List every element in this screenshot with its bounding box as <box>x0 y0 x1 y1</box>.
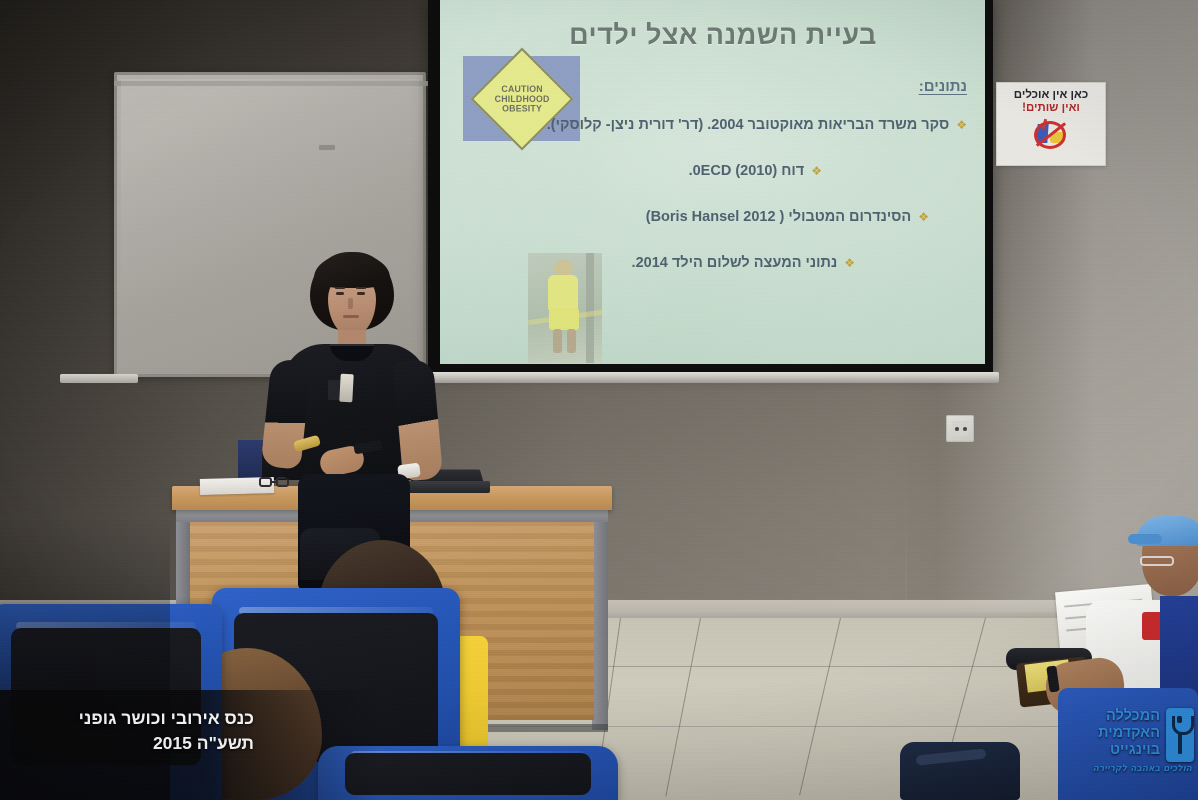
cap-brim <box>1128 534 1162 544</box>
bullet-diamond-icon: ❖ <box>918 208 929 226</box>
no-food-drink-sign: כאן אין אוכלים ואין שותים! <box>996 82 1106 166</box>
logo-line-3: בוינגייט <box>1068 742 1160 759</box>
caption-line-1: כנס אירובי וכושר גופני <box>14 706 254 731</box>
bullet-diamond-icon: ❖ <box>844 254 855 272</box>
whiteboard-marker-tray <box>60 374 138 383</box>
photo-canvas: בעיית השמנה אצל ילדים נתונים: CAUTION CH… <box>0 0 1198 800</box>
list-item: ❖ סקר משרד הבריאות מאוקטובר 2004. (דר' ד… <box>467 116 967 134</box>
event-caption: כנס אירובי וכושר גופני תשע"ה 2015 <box>14 706 254 757</box>
wall-power-outlet <box>946 415 974 442</box>
projection-screen-bottom-rail <box>424 372 999 383</box>
sign-line-1: כאן אין אוכלים <box>1014 89 1088 102</box>
bullet-text: נתוני המעצה לשלום הילד 2014. <box>632 254 838 272</box>
bullet-text: דוח 0ECD (2010). <box>689 162 805 180</box>
slide-child-photo <box>528 253 602 363</box>
slide-subheading: נתונים: <box>919 78 967 95</box>
bullet-text: הסינדרום המטבולי ( Boris Hansel 2012) <box>646 208 912 226</box>
logo-line-1: המכללה <box>1068 708 1160 725</box>
whiteboard-clip <box>319 145 335 150</box>
list-item: ❖ הסינדרום המטבולי ( Boris Hansel 2012) <box>467 208 967 226</box>
wingate-torch-icon <box>1166 708 1194 762</box>
desk-leg-right <box>592 508 608 730</box>
wingate-academic-college-logo: המכללה האקדמית בוינגייט הולכים באהבה לקר… <box>1062 706 1194 790</box>
logo-line-2: האקדמית <box>1068 725 1160 742</box>
bullet-diamond-icon: ❖ <box>956 116 967 134</box>
presenter-fringe <box>314 254 390 288</box>
caution-line-3: OBESITY <box>494 103 549 113</box>
no-food-no-drink-icon <box>1034 120 1068 150</box>
caption-line-2: תשע"ה 2015 <box>14 731 254 756</box>
projection-screen: בעיית השמנה אצל ילדים נתונים: CAUTION CH… <box>440 0 985 364</box>
bullet-text: סקר משרד הבריאות מאוקטובר 2004. (דר' דור… <box>547 116 949 134</box>
bullet-diamond-icon: ❖ <box>811 162 822 180</box>
presenter-pen-clip <box>339 374 353 403</box>
list-item: ❖ דוח 0ECD (2010). <box>467 162 967 180</box>
sign-line-2: ואין שותים! <box>1022 102 1080 115</box>
caution-line-1: CAUTION <box>494 84 549 94</box>
slide-title: בעיית השמנה אצל ילדים <box>483 20 963 51</box>
audience-eyeglasses <box>1140 556 1174 566</box>
caution-line-2: CHILDHOOD <box>494 94 549 104</box>
logo-tagline: הולכים באהבה לקריירה <box>1066 764 1192 774</box>
